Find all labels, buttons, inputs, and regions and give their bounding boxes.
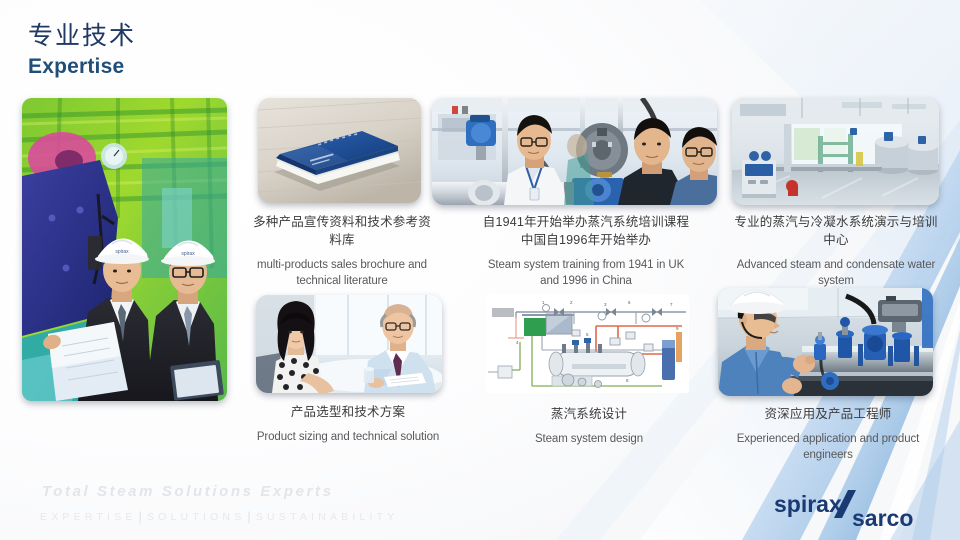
photo-engineers: spirax spir: [22, 98, 227, 401]
page-title-english: Expertise: [28, 53, 136, 80]
logo-word-spirax: spirax: [774, 491, 842, 517]
photo-consultation: [256, 295, 442, 393]
photo-training: [432, 98, 717, 205]
caption-demo-centre: 专业的蒸汽与冷凝水系统演示与培训中心 Advanced steam and co…: [730, 214, 942, 289]
footer-pillar-sustainability: SUSTAINABILITY: [256, 511, 399, 523]
svg-text:spirax: spirax: [115, 249, 129, 255]
caption-schematic-chinese: 蒸汽系统设计: [492, 406, 686, 424]
photo-brochure: [258, 98, 421, 203]
photo-demo-centre: [732, 98, 939, 205]
caption-training-chinese: 自1941年开始举办蒸汽系统培训课程中国自1996年开始举办: [478, 214, 694, 250]
footer-pillar-separator-2: |: [247, 509, 250, 524]
caption-consultation-chinese: 产品选型和技术方案: [252, 404, 444, 422]
caption-brochure-english: multi-products sales brochure and techni…: [252, 257, 432, 290]
caption-field-engineer: 资深应用及产品工程师 Experienced application and p…: [722, 406, 934, 463]
footer-pillar-expertise: EXPERTISE: [40, 511, 137, 523]
caption-consultation-english: Product sizing and technical solution: [252, 429, 444, 445]
spirax-sarco-logo: spirax sarco: [768, 488, 938, 534]
caption-training-english: Steam system training from 1941 in UK an…: [478, 257, 694, 290]
logo-word-sarco: sarco: [852, 505, 913, 531]
slide-canvas: 专业技术 Expertise: [0, 0, 960, 540]
caption-consultation: 产品选型和技术方案 Product sizing and technical s…: [252, 404, 444, 445]
svg-text:spirax: spirax: [181, 251, 195, 257]
footer-pillars: EXPERTISE | SOLUTIONS | SUSTAINABILITY: [40, 509, 398, 524]
caption-training: 自1941年开始举办蒸汽系统培训课程中国自1996年开始举办 Steam sys…: [478, 214, 694, 289]
footer-pillar-separator-1: |: [139, 509, 142, 524]
caption-field-engineer-chinese: 资深应用及产品工程师: [722, 406, 934, 424]
diagram-steam-system-design: 12 36 74 58 9: [486, 294, 689, 393]
page-title-chinese: 专业技术: [28, 22, 136, 52]
footer-pillar-solutions: SOLUTIONS: [147, 511, 245, 523]
caption-schematic-english: Steam system design: [492, 431, 686, 447]
caption-demo-centre-chinese: 专业的蒸汽与冷凝水系统演示与培训中心: [730, 214, 942, 250]
caption-brochure: 多种产品宣传资料和技术参考资料库 multi-products sales br…: [252, 214, 432, 289]
slide-header: 专业技术 Expertise: [28, 22, 136, 80]
caption-schematic: 蒸汽系统设计 Steam system design: [492, 406, 686, 447]
caption-field-engineer-english: Experienced application and product engi…: [722, 431, 934, 464]
caption-brochure-chinese: 多种产品宣传资料和技术参考资料库: [252, 214, 432, 250]
footer-tagline: Total Steam Solutions Experts: [42, 483, 334, 500]
photo-field-engineer: [718, 288, 933, 396]
caption-demo-centre-english: Advanced steam and condensate water syst…: [730, 257, 942, 290]
